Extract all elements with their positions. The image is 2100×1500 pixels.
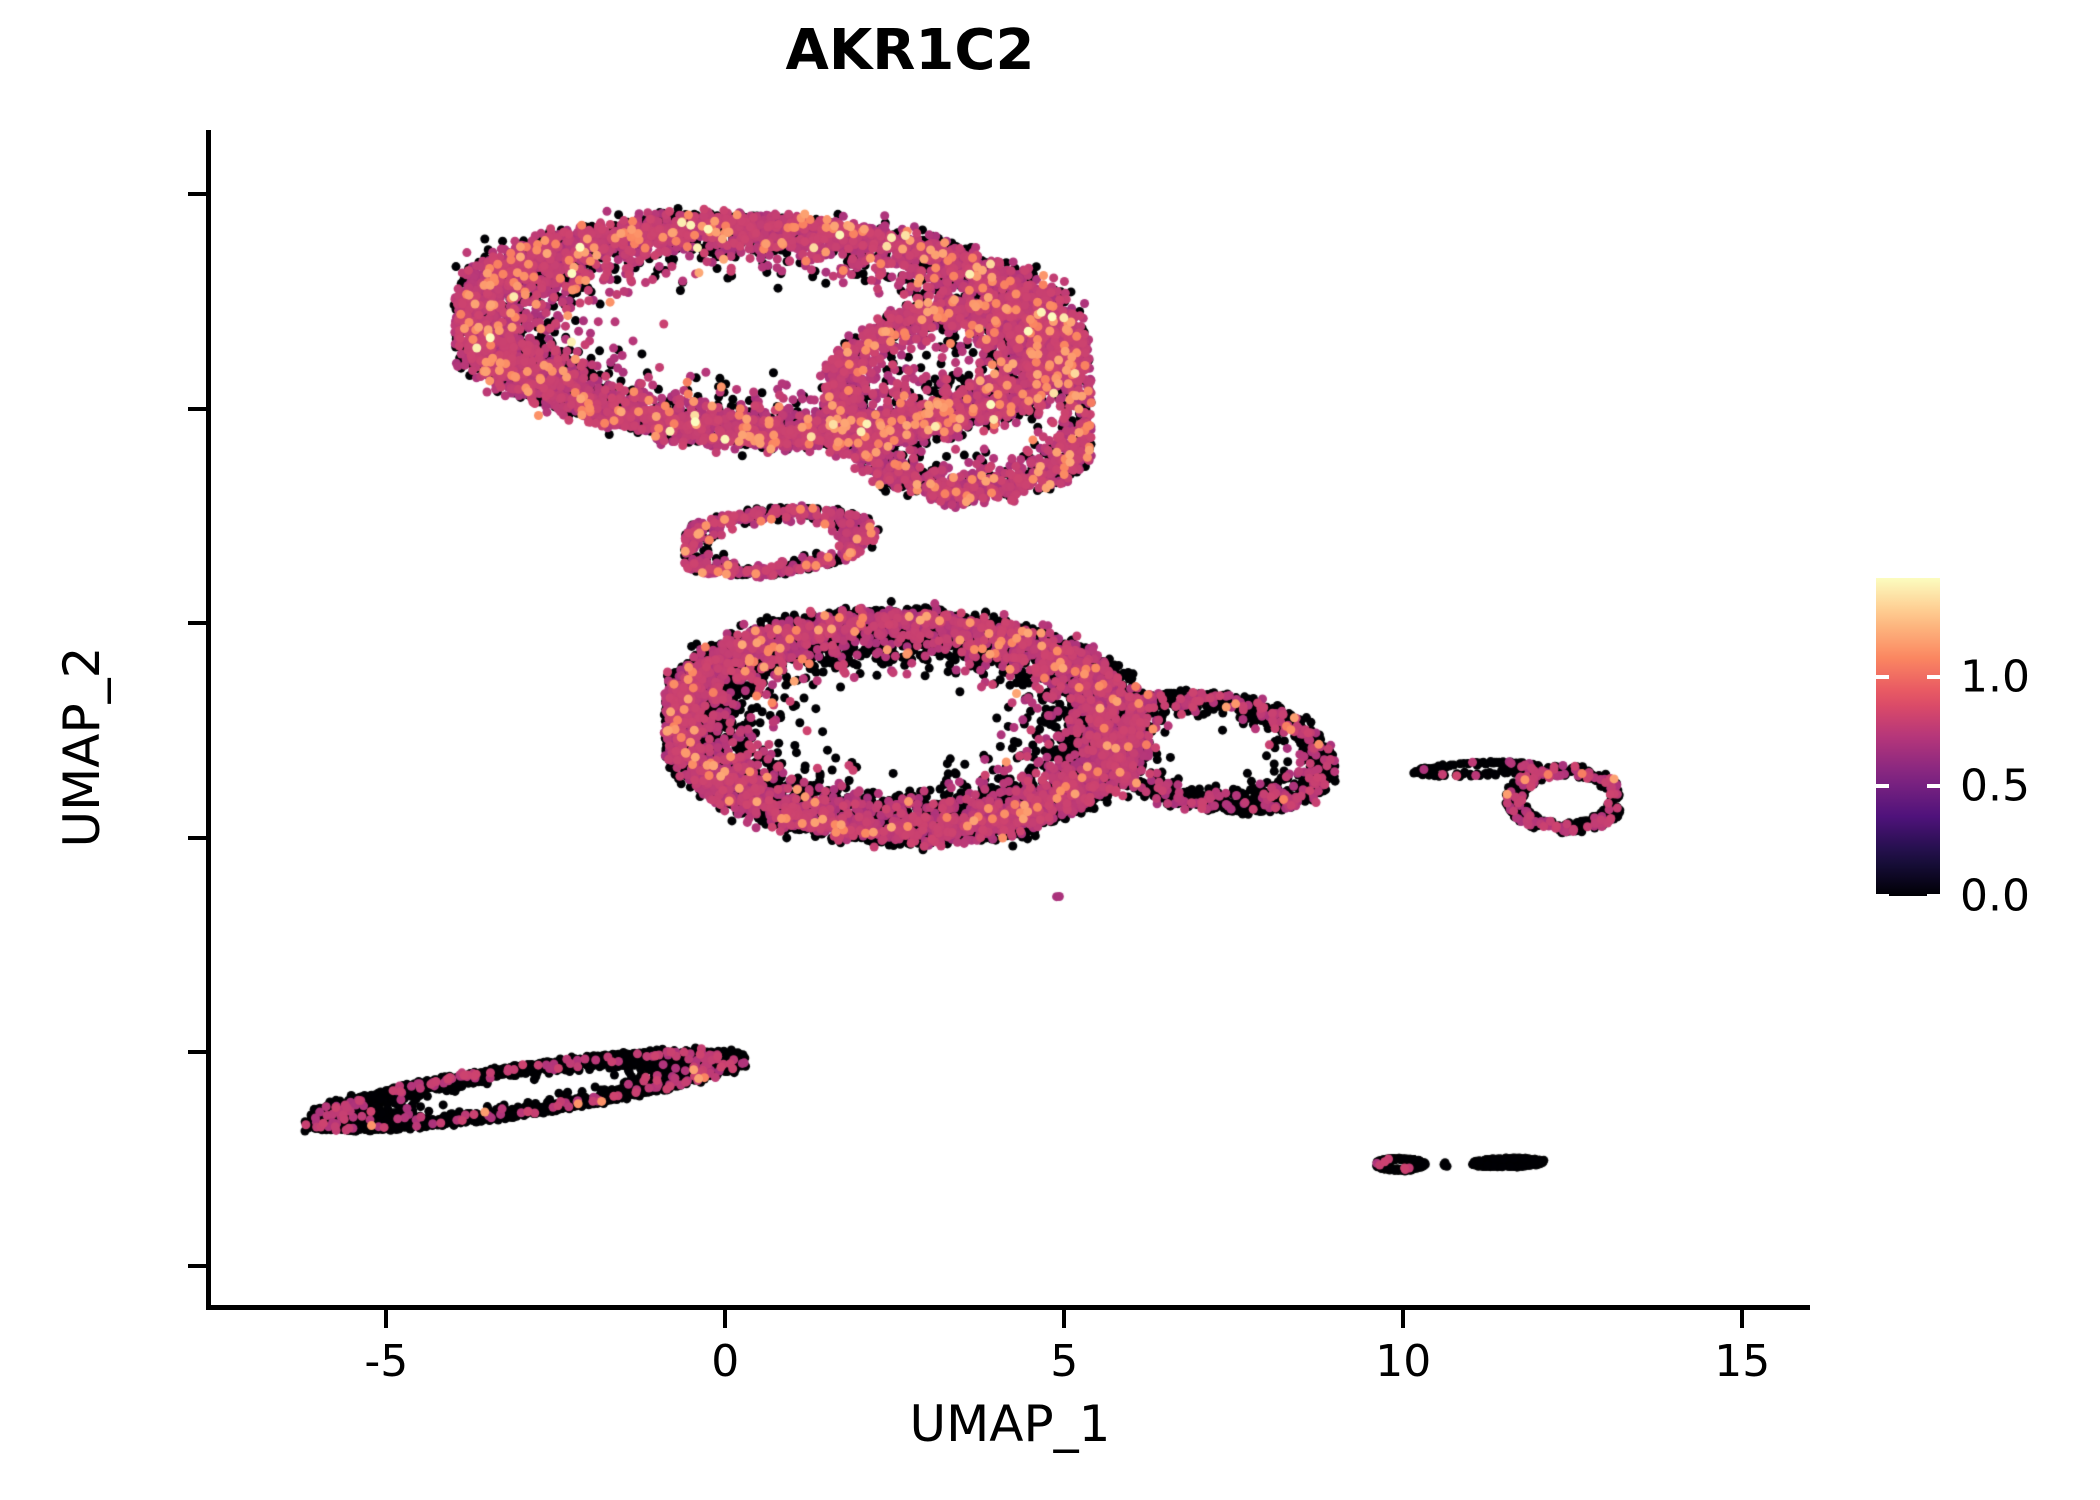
colorbar-tick-mark — [1876, 675, 1889, 679]
colorbar-tick-mark — [1876, 784, 1889, 788]
x-tick-label: 10 — [1375, 1336, 1431, 1387]
colorbar: 1.00.50.0 — [1876, 578, 2096, 898]
x-axis-label: UMAP_1 — [210, 1395, 1810, 1453]
colorbar-tick-label: 0.0 — [1960, 871, 2030, 922]
y-tick-mark — [188, 407, 206, 411]
y-tick-mark — [188, 1264, 206, 1268]
x-tick-mark — [1401, 1310, 1405, 1328]
x-tick-mark — [1740, 1310, 1744, 1328]
y-axis-label: UMAP_2 — [53, 347, 111, 1147]
y-tick-mark — [188, 192, 206, 196]
x-tick-label: 15 — [1714, 1336, 1770, 1387]
y-tick-mark — [188, 621, 206, 625]
colorbar-tick-mark — [1876, 894, 1889, 898]
colorbar-tick-mark — [1927, 784, 1940, 788]
y-tick-mark — [188, 836, 206, 840]
x-tick-label: -5 — [364, 1336, 408, 1387]
axis-spine-left — [206, 130, 211, 1309]
plot-axes: 20151050-5 -5051015 — [210, 130, 1810, 1305]
x-tick-label: 0 — [711, 1336, 739, 1387]
axis-spine-bottom — [206, 1305, 1810, 1310]
x-tick-mark — [384, 1310, 388, 1328]
colorbar-tick-label: 1.0 — [1960, 651, 2030, 702]
colorbar-tick-mark — [1927, 675, 1940, 679]
x-tick-mark — [1062, 1310, 1066, 1328]
page-title: AKR1C2 — [0, 18, 1820, 83]
x-tick-mark — [723, 1310, 727, 1328]
y-tick-mark — [188, 1050, 206, 1054]
colorbar-gradient — [1876, 578, 1940, 896]
colorbar-tick-mark — [1927, 894, 1940, 898]
umap-figure: AKR1C2 20151050-5 -5051015 UMAP_1 UMAP_2… — [0, 0, 2100, 1500]
x-tick-label: 5 — [1050, 1336, 1078, 1387]
scatter-plot-canvas — [210, 130, 1810, 1305]
colorbar-tick-label: 0.5 — [1960, 761, 2030, 812]
